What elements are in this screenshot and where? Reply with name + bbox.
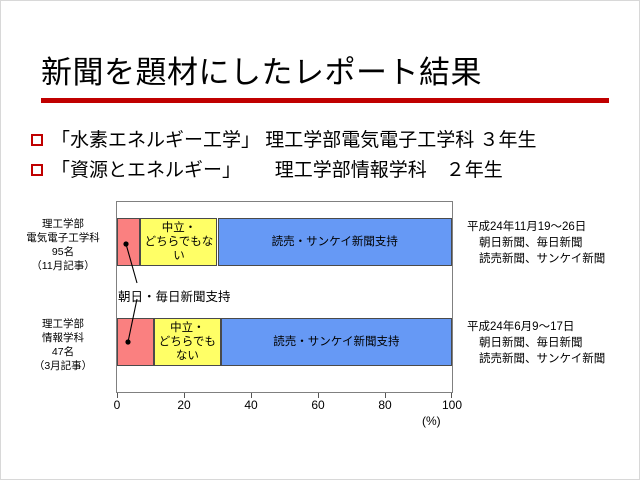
page-title: 新聞を題材にしたレポート結果	[41, 53, 609, 93]
square-outline-icon	[31, 134, 43, 146]
chart-bar-row-0: 中立・ どちらでもない 読売・サンケイ新聞支持	[117, 218, 452, 266]
bullet-item-label: 「資源とエネルギー」 理工学部情報学科 ２年生	[51, 157, 503, 184]
category-label-line: （3月記事）	[13, 359, 113, 373]
bar-segment-yomiuri-sankei: 読売・サンケイ新聞支持	[218, 218, 453, 266]
bar-segment-neutral: 中立・ どちらでもない	[140, 218, 217, 266]
x-axis-tick-label: 60	[311, 398, 324, 412]
note-line: 平成24年6月9〜17日	[467, 319, 605, 335]
x-axis-tick-label: 80	[378, 398, 391, 412]
x-axis-tick-label: 100	[442, 398, 462, 412]
square-outline-icon	[31, 164, 43, 176]
chart-bar-row-1: 中立・ どちらでもない 読売・サンケイ新聞支持	[117, 318, 452, 366]
chart-x-axis-unit: (%)	[422, 414, 441, 428]
category-label-line: 47名	[13, 345, 113, 359]
slide-canvas: 新聞を題材にしたレポート結果 「水素エネルギー工学」 理工学部電気電子工学科 ３…	[0, 0, 640, 480]
bullet-item-label: 「水素エネルギー工学」 理工学部電気電子工学科 ３年生	[51, 127, 537, 154]
bullet-list: 「水素エネルギー工学」 理工学部電気電子工学科 ３年生 「資源とエネルギー」 理…	[31, 127, 631, 187]
note-line: 読売新聞、サンケイ新聞	[467, 251, 605, 267]
chart-category-label-0: 理工学部 電気電子工学科 95名 （11月記事）	[13, 217, 113, 273]
category-label-line: 情報学科	[13, 331, 113, 345]
category-label-line: 95名	[13, 245, 113, 259]
bar-segment-asahi-mainichi	[117, 218, 140, 266]
bar-segment-asahi-mainichi	[117, 318, 154, 366]
title-block: 新聞を題材にしたレポート結果	[41, 53, 609, 109]
note-line: 読売新聞、サンケイ新聞	[467, 351, 605, 367]
note-line: 平成24年11月19〜26日	[467, 219, 605, 235]
title-underline-thin-rule	[381, 100, 609, 101]
bar-segment-yomiuri-sankei: 読売・サンケイ新聞支持	[221, 318, 452, 366]
note-line: 朝日新聞、毎日新聞	[467, 235, 605, 251]
chart-category-label-1: 理工学部 情報学科 47名 （3月記事）	[13, 317, 113, 373]
x-axis-tick-label: 0	[114, 398, 121, 412]
bullet-item-0: 「水素エネルギー工学」 理工学部電気電子工学科 ３年生	[31, 127, 631, 155]
right-note-1: 平成24年6月9〜17日 朝日新聞、毎日新聞 読売新聞、サンケイ新聞	[467, 319, 605, 367]
x-axis-tick-label: 20	[177, 398, 190, 412]
right-note-0: 平成24年11月19〜26日 朝日新聞、毎日新聞 読売新聞、サンケイ新聞	[467, 219, 605, 267]
bullet-item-1: 「資源とエネルギー」 理工学部情報学科 ２年生	[31, 157, 631, 185]
stacked-bar-chart: 理工学部 電気電子工学科 95名 （11月記事） 理工学部 情報学科 47名 （…	[13, 201, 463, 441]
category-label-line: 電気電子工学科	[13, 231, 113, 245]
chart-x-axis-labels: 020406080100	[117, 398, 452, 414]
note-line: 朝日新聞、毎日新聞	[467, 335, 605, 351]
category-label-line: （11月記事）	[13, 259, 113, 273]
chart-annotation-label: 朝日・毎日新聞支持	[118, 286, 231, 305]
category-label-line: 理工学部	[13, 217, 113, 231]
x-axis-tick-label: 40	[244, 398, 257, 412]
category-label-line: 理工学部	[13, 317, 113, 331]
bar-segment-neutral: 中立・ どちらでもない	[154, 318, 221, 366]
